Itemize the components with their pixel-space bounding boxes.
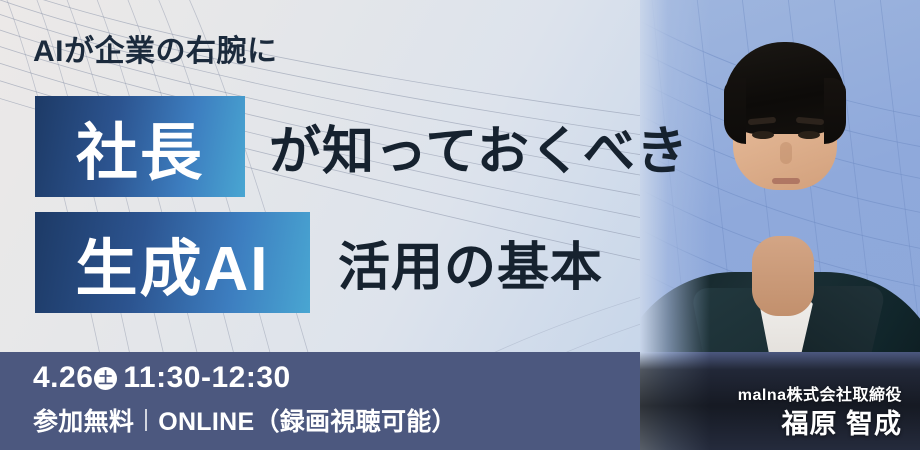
headline-tail-1: が知っておくべき (269, 109, 689, 184)
event-format: ONLINE（録画視聴可能） (158, 402, 457, 438)
headline-line-1: 社長 が知っておくべき (35, 96, 689, 197)
event-date-time: 4.26 土 11:30-12:30 (33, 360, 457, 396)
speaker-role: malna株式会社取締役 (738, 386, 902, 406)
event-attendance-info: 参加無料 ONLINE（録画視聴可能） (33, 402, 457, 438)
event-month-day: 4.26 (33, 360, 93, 396)
webinar-banner: malna株式会社取締役 福原 智成 AIが企業の右腕に 社長 が知っておくべき… (0, 0, 920, 450)
event-info-content: 4.26 土 11:30-12:30 参加無料 ONLINE（録画視聴可能） (33, 360, 457, 438)
headline-badge-shacho: 社長 (35, 96, 245, 197)
headline-line-2: 生成AI 活用の基本 (35, 212, 603, 313)
event-time: 11:30-12:30 (123, 360, 290, 396)
speaker-photo-panel: malna株式会社取締役 福原 智成 (640, 0, 920, 450)
speaker-caption: malna株式会社取締役 福原 智成 (738, 386, 902, 440)
kicker-text: AIが企業の右腕に (33, 26, 278, 70)
speaker-name: 福原 智成 (738, 408, 902, 440)
separator-divider (145, 409, 147, 431)
headline-badge-seisei-ai: 生成AI (35, 212, 310, 313)
event-price: 参加無料 (33, 402, 134, 438)
headline-tail-2: 活用の基本 (338, 225, 603, 300)
weekday-badge: 土 (94, 367, 117, 390)
